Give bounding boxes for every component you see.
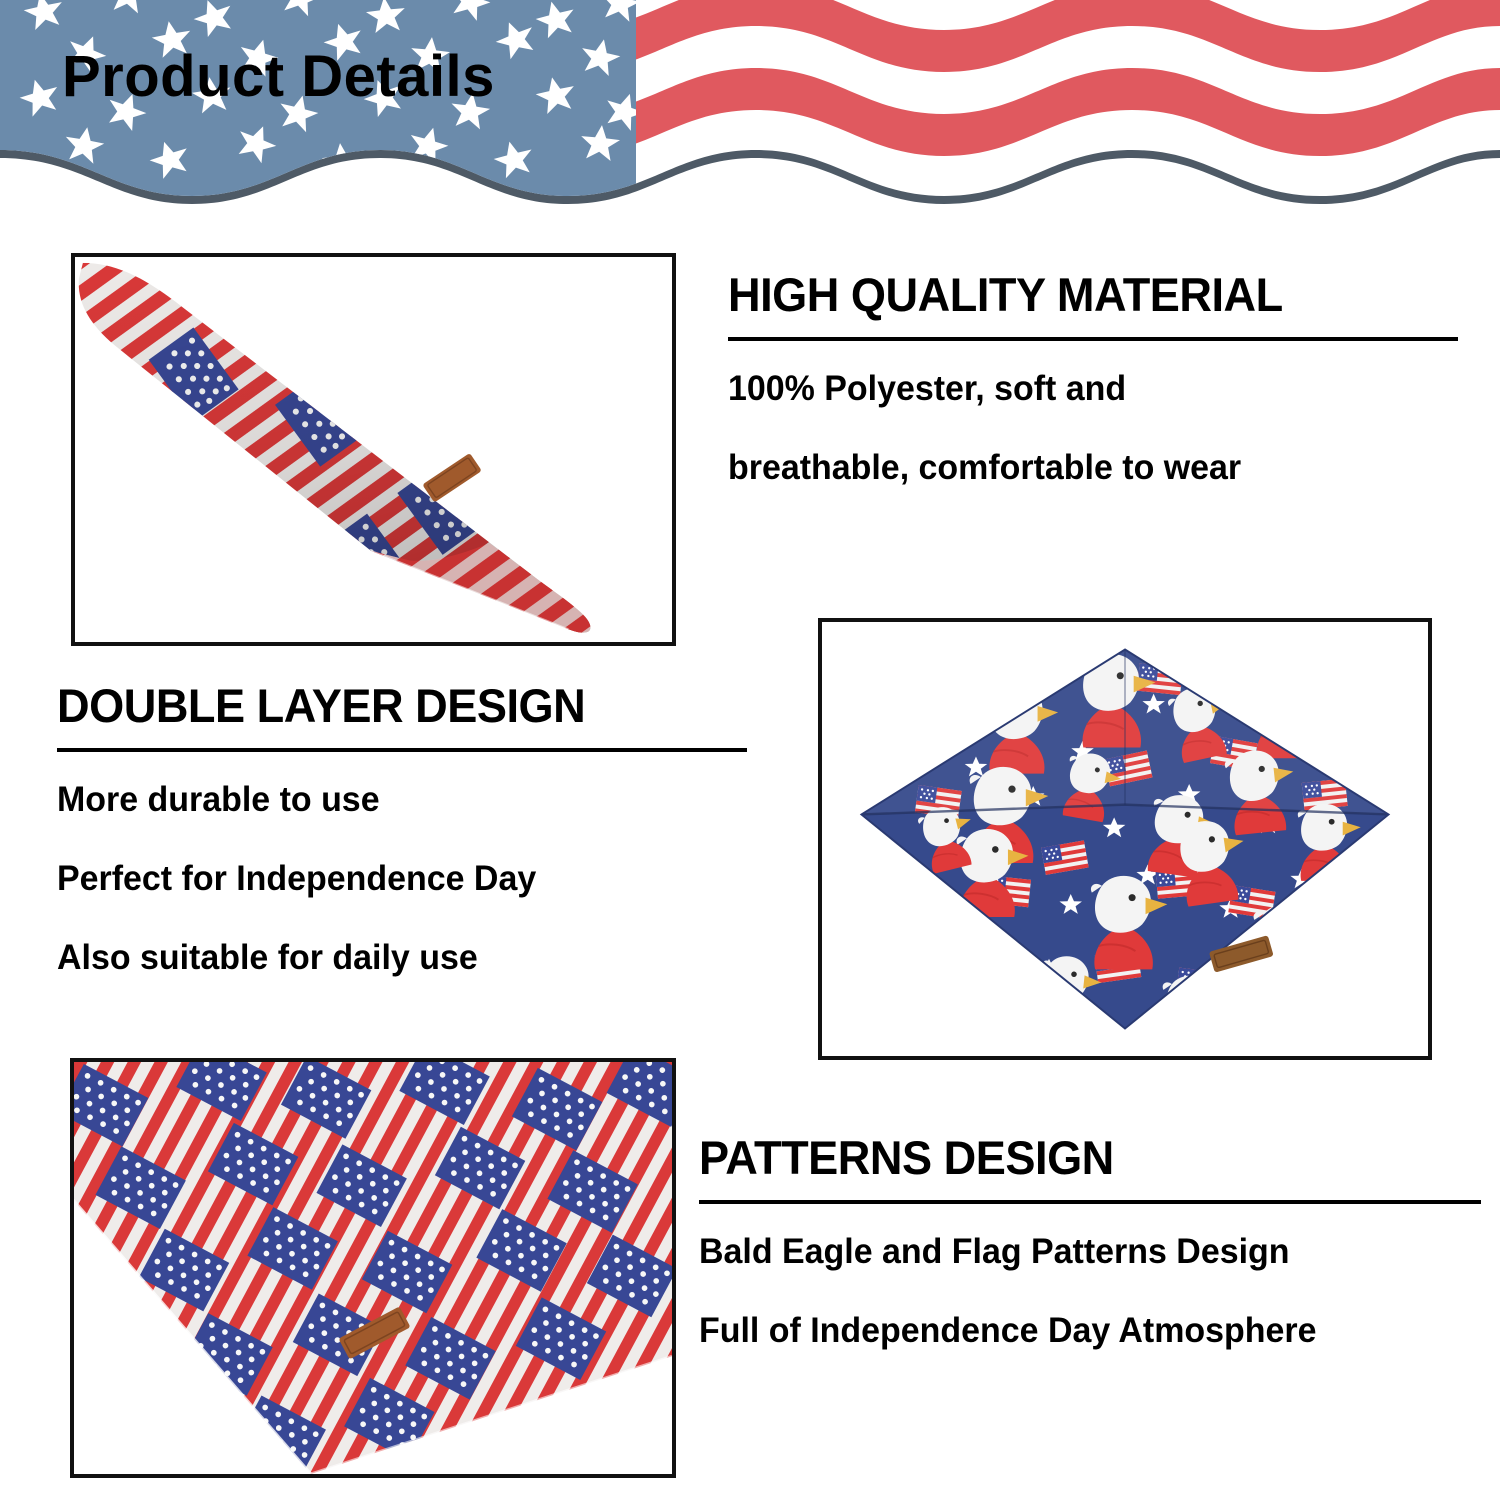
section-divider <box>728 337 1458 341</box>
section-high-quality-material: HIGH QUALITY MATERIAL 100% Polyester, so… <box>728 270 1468 487</box>
section-body: More durable to use Perfect for Independ… <box>57 782 757 976</box>
section-body-line: 100% Polyester, soft and <box>728 371 1446 408</box>
product-photo-flat-bandana <box>70 1058 676 1478</box>
section-patterns-design: PATTERNS DESIGN Bald Eagle and Flag Patt… <box>699 1133 1489 1350</box>
rolled-bandana-image <box>75 257 672 642</box>
product-photo-eagle-bandana <box>818 618 1432 1060</box>
section-double-layer-design: DOUBLE LAYER DESIGN More durable to use … <box>57 681 757 977</box>
section-body: 100% Polyester, soft and breathable, com… <box>728 371 1468 487</box>
section-heading: DOUBLE LAYER DESIGN <box>57 681 729 730</box>
section-divider <box>57 748 747 752</box>
section-body-line: breathable, comfortable to wear <box>728 450 1446 487</box>
section-body-line: Full of Independence Day Atmosphere <box>699 1313 1465 1350</box>
page-title: Product Details <box>62 48 495 106</box>
product-photo-rolled-bandana <box>71 253 676 646</box>
section-body-line: Perfect for Independence Day <box>57 861 736 898</box>
section-divider <box>699 1200 1481 1204</box>
section-heading: HIGH QUALITY MATERIAL <box>728 270 1438 319</box>
section-body-line: Also suitable for daily use <box>57 940 736 977</box>
section-body-line: More durable to use <box>57 782 736 819</box>
section-body-line: Bald Eagle and Flag Patterns Design <box>699 1234 1465 1271</box>
eagle-bandana-image <box>822 622 1428 1056</box>
flag-banner: Product Details <box>0 0 1500 215</box>
section-heading: PATTERNS DESIGN <box>699 1133 1457 1182</box>
section-body: Bald Eagle and Flag Patterns Design Full… <box>699 1234 1489 1350</box>
flat-bandana-image <box>74 1062 672 1474</box>
